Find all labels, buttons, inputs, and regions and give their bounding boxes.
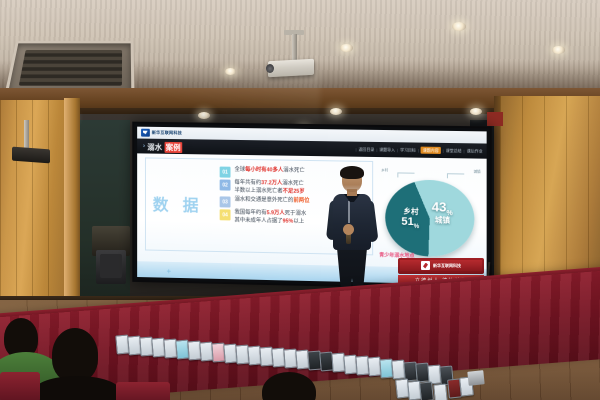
wall-recess-left: [74, 120, 130, 316]
presenter-hair: [340, 166, 364, 179]
nav-item-5[interactable]: 课后作业: [467, 148, 483, 154]
nav-item-0[interactable]: 返回目录: [359, 146, 375, 152]
floor-speaker: [96, 250, 126, 284]
slide-brand: 新华互联网科技: [141, 128, 182, 136]
nav-item-2[interactable]: 学习目标: [400, 147, 416, 153]
pie-chart: 乡村 城镇 乡村 51% 43% 城镇 青少年溺水地点: [377, 165, 482, 264]
podium-logo-label: 新华互联网科技: [433, 263, 461, 269]
pie-chart-circle: [385, 179, 474, 257]
nav-separator: |: [376, 147, 377, 152]
pie-leader-label-right: 城镇: [474, 169, 481, 174]
slide-title-plain: 溺水: [147, 141, 162, 152]
nav-separator: |: [443, 148, 444, 153]
slide-title: › 溺水 案例: [143, 141, 182, 152]
presenter-torso: [333, 194, 371, 250]
projector-lens-icon: [266, 64, 274, 73]
podium-brand-panel: 新华互联网科技: [400, 260, 482, 271]
downlight: [330, 108, 342, 115]
presenter-hand: [343, 224, 354, 235]
brand-label: 新华互联网科技: [152, 129, 182, 135]
phone-item[interactable]: [433, 383, 448, 400]
left-wall-pillar-edge: [64, 98, 80, 324]
red-wall-accent: [487, 112, 503, 126]
left-ceiling-projector-icon: [12, 147, 50, 164]
section-label-data: 数 据: [153, 191, 204, 216]
nav-separator: |: [418, 148, 419, 153]
list-item-number: 04: [220, 210, 231, 221]
nav-separator: |: [464, 148, 465, 153]
nav-separator: |: [356, 147, 357, 152]
list-item-number: 01: [220, 167, 231, 178]
downlight: [552, 46, 565, 54]
audience-shoulders: [34, 376, 120, 400]
pie-leader-line-left: [397, 172, 414, 177]
podium-logo-icon: [421, 261, 430, 270]
charger-tray: [467, 370, 484, 386]
podium-top: 新华互联网科技: [398, 258, 484, 274]
list-item-text: 每年共有约37.2万人溺水死亡半数以上溺水死亡者不足25岁: [234, 180, 304, 196]
plus-icon: +: [167, 267, 172, 276]
list-item-text: 我国每年约有5.9万人死于溺水其中未成年人占据了95%以上: [234, 210, 306, 226]
downlight: [198, 112, 210, 119]
presenter-lanyard: [348, 201, 350, 223]
phone-item[interactable]: [419, 381, 434, 400]
nav-separator: |: [397, 147, 398, 152]
pie-slice-label-urban: 城镇: [435, 214, 450, 225]
list-item-text: 溺水和交通是意外死亡的前两位: [234, 197, 309, 206]
audience-chair: [0, 372, 40, 400]
nav-item-1[interactable]: 课题导入: [379, 147, 395, 153]
downlight: [452, 22, 466, 31]
left-projector-pole: [24, 120, 29, 150]
ceiling-projector-icon: [268, 59, 314, 77]
slide-title-accent: 案例: [164, 141, 182, 152]
screenshot-root: 新华互联网科技 › 溺水 案例 | 返回目录 | 课题导入 | 学习目标 |: [0, 0, 600, 400]
audience-head: [52, 328, 98, 382]
audience-chair: [116, 382, 170, 400]
nav-item-4[interactable]: 课堂总结: [446, 147, 462, 153]
list-item-number: 03: [220, 197, 231, 208]
pie-slice-value-rural: 51%: [401, 216, 419, 231]
projector-pole: [292, 34, 297, 62]
list-item-number: 02: [220, 180, 231, 191]
brand-logo-icon: [141, 128, 150, 136]
nav-item-3-active[interactable]: 课题内容: [421, 147, 441, 154]
slide-nav[interactable]: | 返回目录 | 课题导入 | 学习目标 | 课题内容 | 课堂总结 | 课后作…: [356, 146, 483, 155]
downlight: [340, 44, 353, 52]
downlight: [225, 68, 236, 75]
pie-leader-label-left: 乡村: [381, 167, 388, 172]
downlight: [470, 108, 482, 115]
pie-leader-line-right: [447, 173, 464, 178]
list-item-text: 全球每小时有40多人溺水死亡: [234, 167, 304, 176]
chevron-right-icon: ›: [143, 144, 145, 150]
